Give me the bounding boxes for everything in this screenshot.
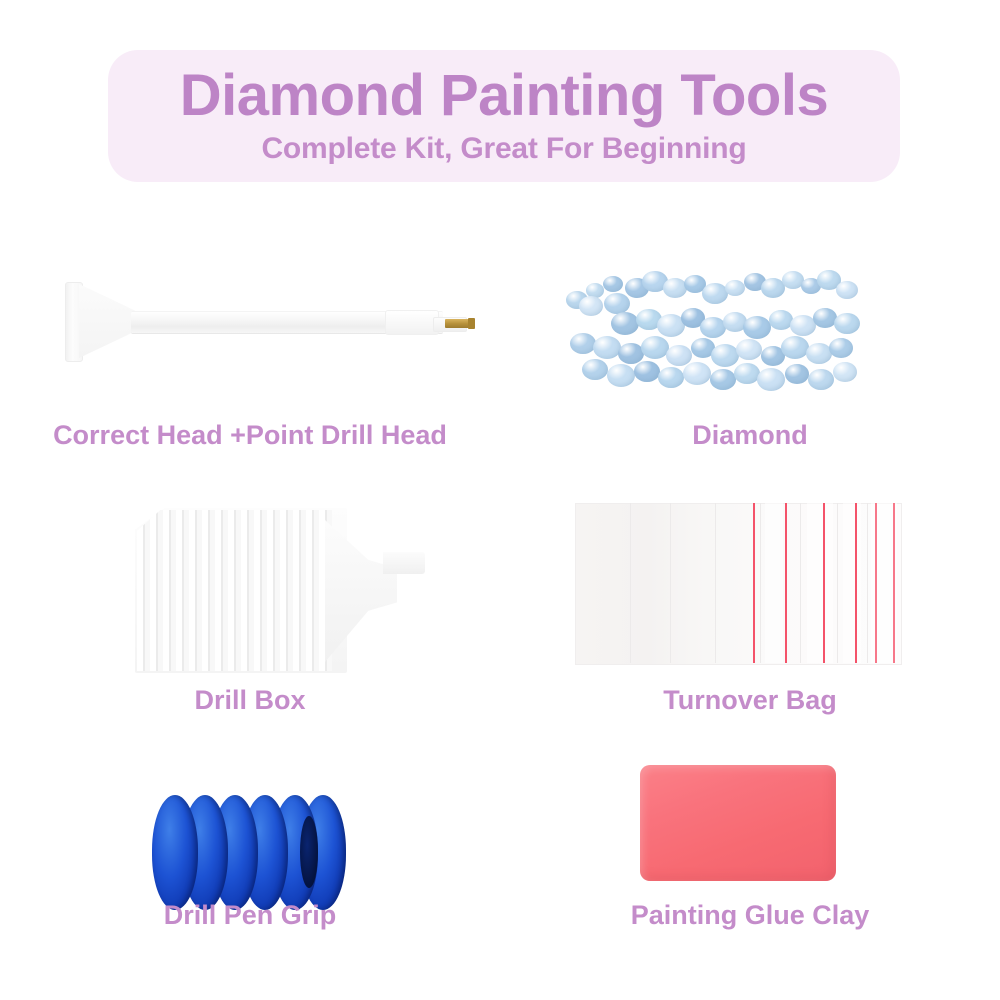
tray-neck [325,520,397,662]
bag-fold-line [760,503,761,663]
caption-diamond: Diamond [500,420,1000,451]
bag-seal-line [785,503,787,663]
diamond-beads-photo [565,246,865,396]
bag-seal-line [875,503,877,663]
caption-painting-glue-clay: Painting Glue Clay [500,900,1000,931]
diamond-bead [658,367,684,388]
diamond-bead [736,339,762,360]
page-subtitle: Complete Kit, Great For Beginning [261,132,746,166]
diamond-bead [683,362,711,385]
bag-seal-line [893,503,895,663]
pen-grip-photo [152,790,352,915]
product-cell-turnover-bag: Turnover Bag [500,470,1000,735]
drill-tray-photo [125,490,425,690]
bag-fold-line [867,503,868,663]
bag-seal-line [753,503,755,663]
diamond-bead [734,363,760,384]
header-banner: Diamond Painting Tools Complete Kit, Gre… [108,50,900,182]
bag-fold-line [800,503,801,663]
diamond-bead [634,361,660,382]
bag-sheet [765,503,783,663]
clay-block [640,765,836,881]
tray-ribs [137,510,332,671]
bag-sheet [807,503,833,663]
bag-sheet [843,503,861,663]
diamond-bead [603,276,623,292]
diamond-bead [781,336,809,359]
bag-seal-line [823,503,825,663]
turnover-bag-photo [575,503,900,663]
page-title: Diamond Painting Tools [180,66,828,125]
bag-fold-line [630,503,631,663]
diamond-bead [833,362,857,382]
diamond-bead [710,369,736,390]
bag-seal-line [855,503,857,663]
caption-drill-pen-grip: Drill Pen Grip [0,900,500,931]
diamond-bead [641,336,669,359]
diamond-bead [725,280,745,296]
product-cell-correct-head-point-drill-head: Correct Head +Point Drill Head [0,220,500,470]
product-cell-painting-glue-clay: Painting Glue Clay [500,735,1000,965]
pen-head-flare [79,284,135,358]
diamond-bead [607,364,635,387]
diamond-bead [834,313,860,334]
diamond-bead [582,359,608,380]
caption-correct-head-point-drill-head: Correct Head +Point Drill Head [0,420,500,451]
bag-fold-line [715,503,716,663]
grip-segment [152,795,198,910]
caption-turnover-bag: Turnover Bag [500,685,1000,716]
drill-pen-photo [55,270,485,380]
diamond-bead [785,364,809,384]
diamond-bead [808,369,834,390]
diamond-bead [611,312,639,335]
grip-bore-hole [300,816,318,888]
diamond-bead [836,281,858,299]
caption-drill-box: Drill Box [0,685,500,716]
diamond-bead [570,333,596,354]
pen-tip-end [468,318,475,329]
glue-clay-photo [640,765,836,881]
diamond-bead [757,368,785,391]
diamond-bead [711,344,739,367]
bag-fold-line [670,503,671,663]
diamond-bead [743,316,771,339]
product-cell-diamond: Diamond [500,220,1000,470]
tray-handle [383,552,425,574]
diamond-bead [829,338,853,358]
pen-collar [385,310,439,335]
product-cell-drill-pen-grip: Drill Pen Grip [0,735,500,965]
bag-fold-line [837,503,838,663]
diamond-bead [579,296,603,316]
product-cell-drill-box: Drill Box [0,470,500,735]
infographic-page: Diamond Painting Tools Complete Kit, Gre… [0,0,1000,1000]
diamond-bead [593,336,621,359]
